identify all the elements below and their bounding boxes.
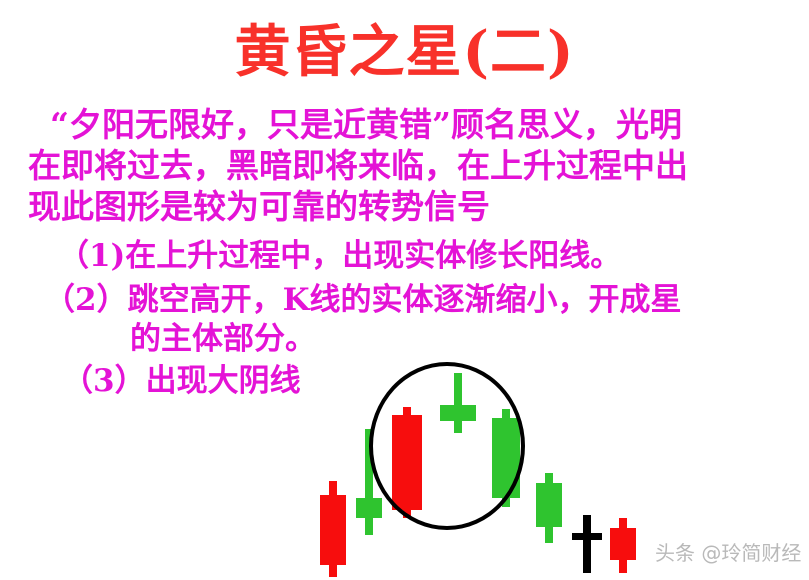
intro-line-2: 在即将过去，黑暗即将来临，在上升过程中出 xyxy=(28,145,788,186)
candle-6 xyxy=(536,355,562,580)
candle-8 xyxy=(610,355,636,580)
bullet-point-2: （2）跳空高开，K线的实体逐渐缩小，开成星 xyxy=(44,281,682,320)
candle-1 xyxy=(320,355,346,580)
intro-paragraph: “夕阳无限好，只是近黄错”顾名思义，光明 在即将过去，黑暗即将来临，在上升过程中… xyxy=(28,104,788,227)
page-title: 黄昏之星(二) xyxy=(0,22,809,82)
intro-line-3: 现此图形是较为可靠的转势信号 xyxy=(28,186,788,227)
pattern-highlight-circle xyxy=(369,362,525,530)
watermark-label: 头条 @玲简财经 xyxy=(655,541,801,565)
bullet-point-1: （1)在上升过程中，出现实体修长阳线。 xyxy=(58,237,621,276)
candle-body xyxy=(356,498,382,518)
bullet-point-3: （3）出现大阴线 xyxy=(62,362,301,401)
intro-line-1: “夕阳无限好，只是近黄错”顾名思义，光明 xyxy=(28,104,788,145)
bullet-point-2-continued: 的主体部分。 xyxy=(130,320,316,359)
candle-wick xyxy=(583,515,591,573)
slide-canvas: 黄昏之星(二) “夕阳无限好，只是近黄错”顾名思义，光明 在即将过去，黑暗即将来… xyxy=(0,0,809,580)
candle-7 xyxy=(572,355,602,580)
candle-body xyxy=(320,495,346,565)
candle-body xyxy=(572,533,602,540)
candle-body xyxy=(536,483,562,527)
candle-body xyxy=(610,528,636,560)
